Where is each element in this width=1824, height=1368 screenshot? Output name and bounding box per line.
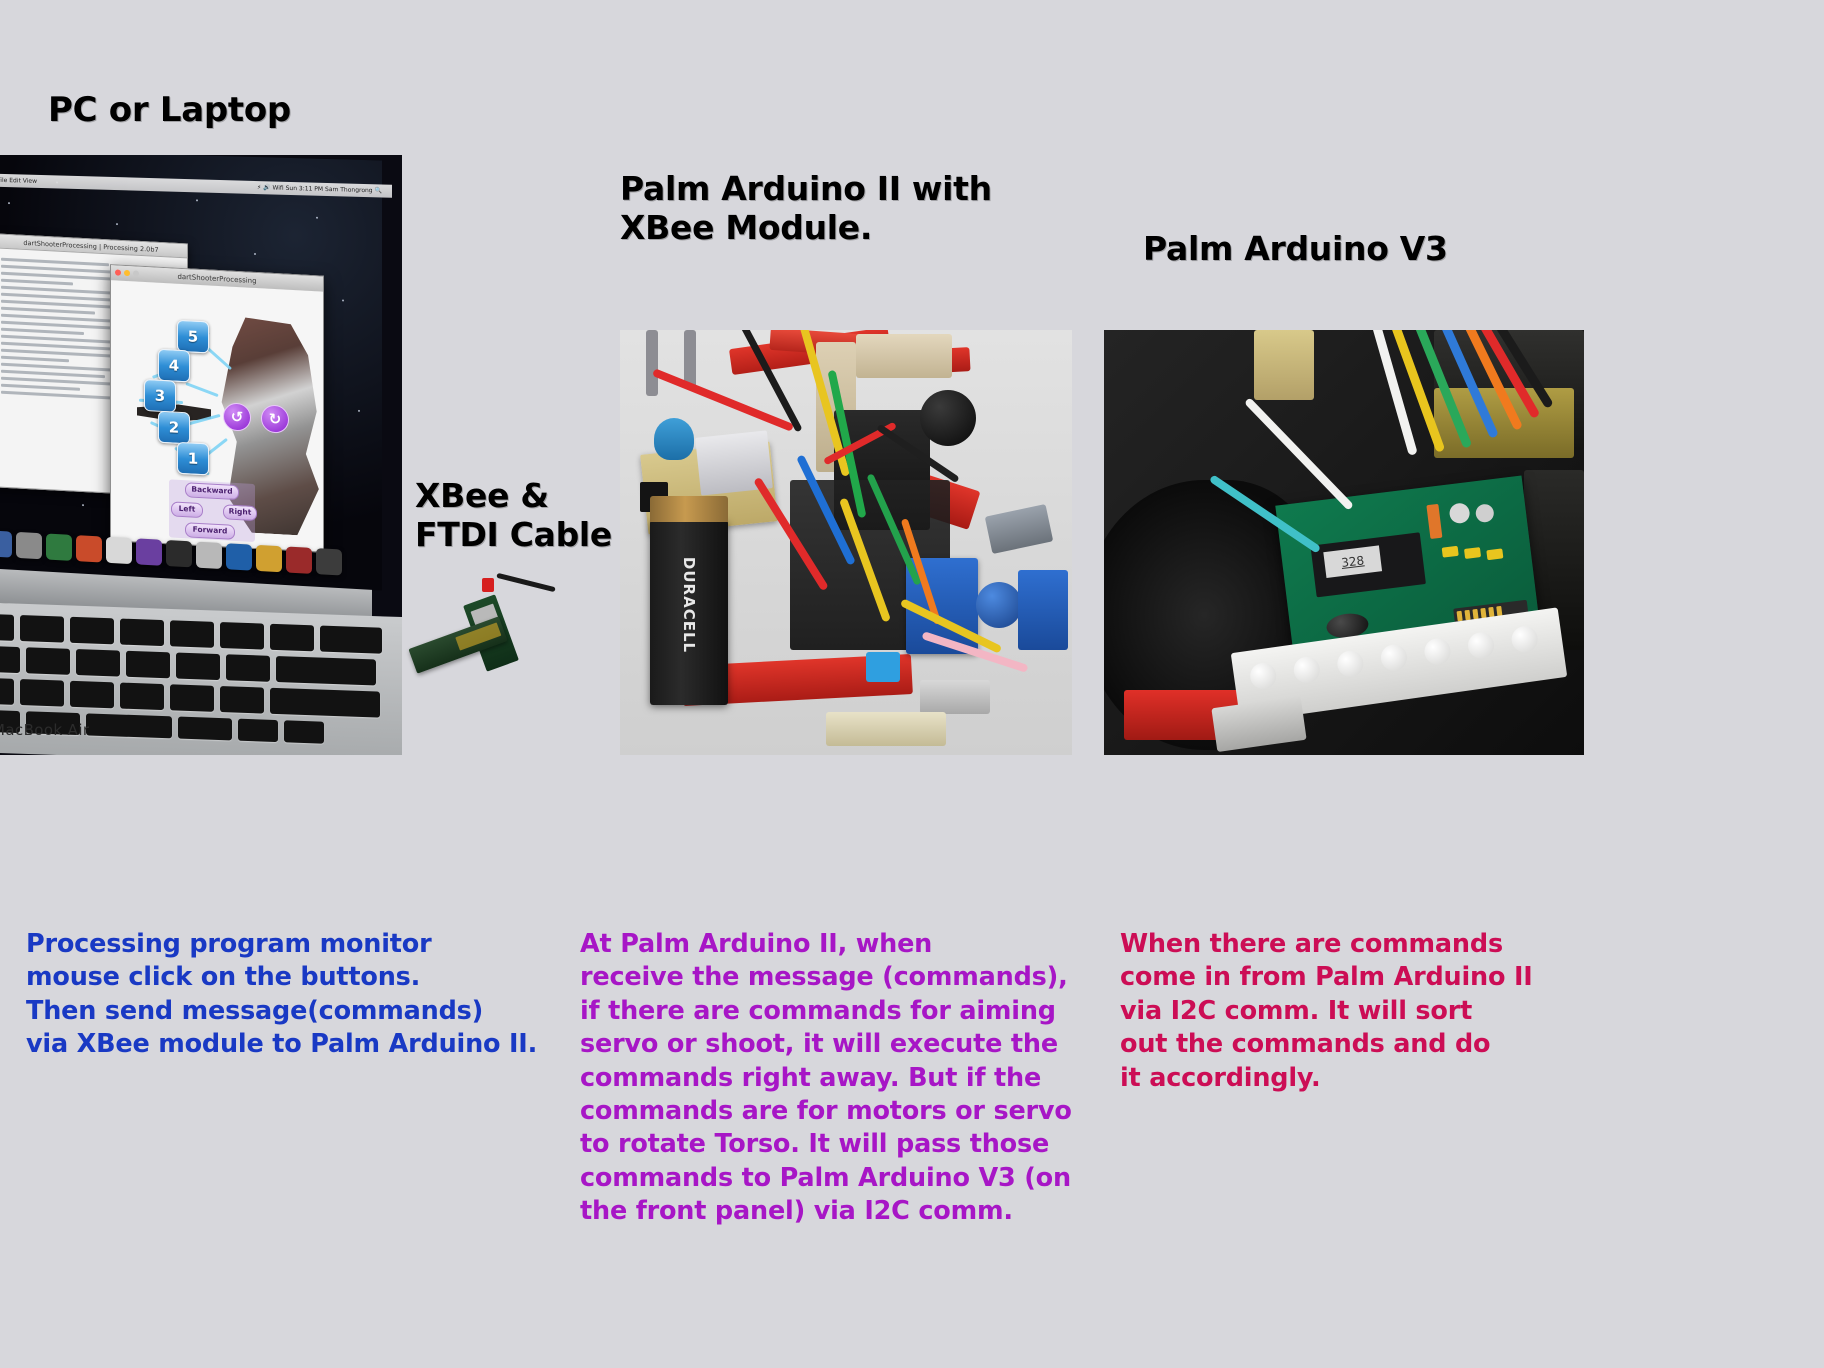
aim-button-2[interactable]: 2 xyxy=(158,411,190,445)
ftdi-cable-wire xyxy=(496,573,555,592)
menu-bar-right-items[interactable]: ⚡ 🔊 Wifi Sun 3:11 PM Sam Thongrong 🔍 xyxy=(257,184,382,194)
led-yellow xyxy=(1442,546,1459,558)
lego-beam-tan xyxy=(856,334,952,378)
capacitor-orange xyxy=(1426,504,1442,539)
caption-left-processing: Processing program monitor mouse click o… xyxy=(26,928,586,1062)
heading-xbee-ftdi-cable: XBee & FTDI Cable xyxy=(415,477,612,555)
photo-palm-arduino-ii: DURACELL xyxy=(620,330,1072,755)
dock-icon[interactable] xyxy=(16,532,42,559)
heading-palm-arduino-v3: Palm Arduino V3 xyxy=(1143,230,1448,269)
processing-sketch-window[interactable]: dartShooterProcessing 5 xyxy=(110,264,324,553)
sketch-window-title: dartShooterProcessing xyxy=(177,272,256,284)
blue-servo-motor xyxy=(1018,570,1068,650)
capacitor-silver xyxy=(1448,502,1470,524)
dock-icon[interactable] xyxy=(316,548,342,575)
minimize-icon[interactable] xyxy=(124,270,130,276)
servo-horn xyxy=(976,582,1022,628)
dock-icon[interactable] xyxy=(256,545,282,572)
lego-beam-tan xyxy=(1254,330,1314,400)
battery-brand-label: DURACELL xyxy=(680,557,698,653)
dock-icon[interactable] xyxy=(166,540,192,567)
lego-beam-tan xyxy=(826,712,946,746)
dock-icon[interactable] xyxy=(0,530,12,557)
led-yellow xyxy=(1464,547,1481,559)
menu-bar-left-items[interactable]: ☰ File Edit View xyxy=(0,177,37,185)
photo-palm-arduino-v3: 328 xyxy=(1104,330,1584,755)
photo-xbee-and-ftdi-cable xyxy=(392,560,572,690)
capacitor-silver xyxy=(1475,503,1495,523)
dock-icon[interactable] xyxy=(196,542,222,569)
lego-clip-blue xyxy=(866,652,900,682)
lego-wheel-hub xyxy=(920,390,976,446)
laptop-screen: ☰ File Edit View ⚡ 🔊 Wifi Sun 3:11 PM Sa… xyxy=(0,155,382,591)
right-button[interactable]: Right xyxy=(223,504,257,521)
heading-palm-arduino-ii: Palm Arduino II with XBee Module. xyxy=(620,170,992,248)
aim-button-4[interactable]: 4 xyxy=(158,349,190,383)
rotate-right-button[interactable]: ↻ xyxy=(261,404,289,434)
battery-terminal-cap xyxy=(650,496,728,522)
electrolytic-capacitor xyxy=(654,418,694,460)
dock-icon[interactable] xyxy=(286,546,312,573)
aim-button-5[interactable]: 5 xyxy=(177,320,209,354)
nine-volt-battery: DURACELL xyxy=(650,520,728,705)
dock-icon[interactable] xyxy=(76,535,102,562)
backward-button[interactable]: Backward xyxy=(185,482,239,500)
close-icon[interactable] xyxy=(115,269,121,275)
aim-button-1[interactable]: 1 xyxy=(177,442,209,476)
lego-beam-white xyxy=(920,680,990,714)
chip-marking-label: 328 xyxy=(1323,545,1382,578)
led-yellow xyxy=(1486,548,1503,560)
dock-icon[interactable] xyxy=(106,537,132,564)
dock-icon[interactable] xyxy=(46,533,72,560)
lego-axle xyxy=(684,330,696,388)
dock-icon[interactable] xyxy=(226,543,252,570)
dock-icon[interactable] xyxy=(136,538,162,565)
rotate-left-button[interactable]: ↺ xyxy=(223,402,251,432)
caption-middle-palm-arduino-ii: At Palm Arduino II, when receive the mes… xyxy=(580,928,1100,1229)
sketch-canvas[interactable]: 5 4 3 2 1 ↺ ↻ Backward Left Right Forwar… xyxy=(111,280,323,551)
status-led-icon xyxy=(482,578,494,592)
heading-pc-or-laptop: PC or Laptop xyxy=(48,90,291,130)
photo-pc-or-laptop: ☰ File Edit View ⚡ 🔊 Wifi Sun 3:11 PM Sa… xyxy=(0,155,402,755)
aim-button-3[interactable]: 3 xyxy=(144,379,176,413)
caption-right-palm-arduino-v3: When there are commands come in from Pal… xyxy=(1120,928,1540,1095)
zoom-icon[interactable] xyxy=(133,270,139,276)
aim-ray xyxy=(185,382,218,397)
window-traffic-lights[interactable] xyxy=(115,269,139,276)
left-button[interactable]: Left xyxy=(171,501,203,518)
laptop-brand-label: MacBook Air xyxy=(0,721,89,739)
microcontroller-chip: 328 xyxy=(1310,532,1426,597)
lego-axle xyxy=(646,330,658,396)
poster-canvas: PC or Laptop Palm Arduino II with XBee M… xyxy=(0,0,1824,1368)
